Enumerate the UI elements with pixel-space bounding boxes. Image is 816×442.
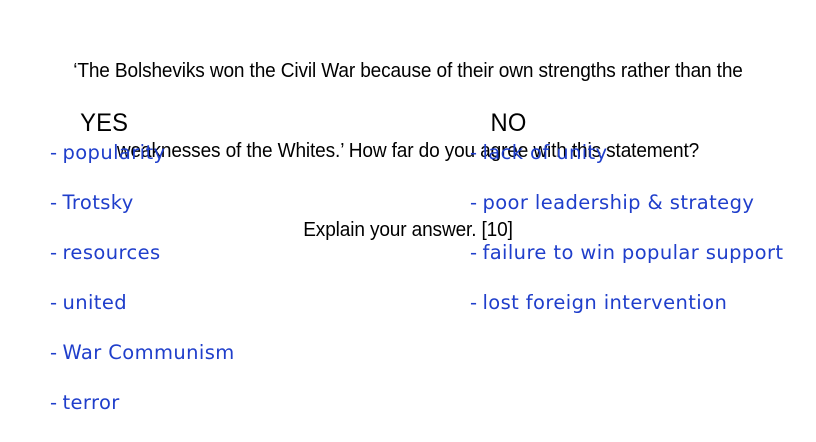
list-item-label: lost foreign intervention — [482, 291, 727, 314]
list-item: -lost foreign intervention — [462, 292, 816, 342]
list-item-label: terror — [62, 391, 119, 414]
list-item: -terror — [44, 392, 444, 442]
bullet-dash-icon: - — [470, 242, 477, 264]
list-item-label: resources — [62, 241, 160, 264]
list-item-label: War Communism — [62, 341, 234, 364]
list-item-label: popularity — [62, 141, 165, 164]
bullet-dash-icon: - — [50, 242, 57, 264]
bullet-dash-icon: - — [50, 192, 57, 214]
slide-canvas: ‘The Bolsheviks won the Civil War becaus… — [0, 0, 816, 436]
column-header-yes: YES — [44, 108, 424, 142]
list-item-label: failure to win popular support — [482, 241, 783, 264]
column-header-no: NO — [462, 108, 798, 142]
list-item: -popularity — [44, 142, 444, 192]
column-no: NO -lack of unity -poor leadership & str… — [462, 108, 816, 342]
bullet-dash-icon: - — [50, 342, 57, 364]
list-item: -resources — [44, 242, 444, 292]
bullet-dash-icon: - — [50, 292, 57, 314]
list-item-label: lack of unity — [482, 141, 607, 164]
list-item: -lack of unity — [462, 142, 816, 192]
bullet-dash-icon: - — [50, 392, 57, 414]
list-item: -united — [44, 292, 444, 342]
list-item-label: Trotsky — [62, 191, 133, 214]
column-yes: YES -popularity -Trotsky -resources -uni… — [44, 108, 444, 442]
bullet-dash-icon: - — [470, 192, 477, 214]
bullet-dash-icon: - — [50, 142, 57, 164]
bullet-dash-icon: - — [470, 142, 477, 164]
list-item: -Trotsky — [44, 192, 444, 242]
bullet-list-no: -lack of unity -poor leadership & strate… — [462, 142, 816, 342]
question-line-1: ‘The Bolsheviks won the Civil War becaus… — [45, 58, 770, 85]
answer-columns: YES -popularity -Trotsky -resources -uni… — [0, 108, 816, 436]
list-item: -poor leadership & strategy — [462, 192, 816, 242]
list-item-label: poor leadership & strategy — [482, 191, 754, 214]
bullet-dash-icon: - — [470, 292, 477, 314]
list-item: -failure to win popular support — [462, 242, 816, 292]
bullet-list-yes: -popularity -Trotsky -resources -united … — [44, 142, 444, 442]
list-item-label: united — [62, 291, 127, 314]
list-item: -War Communism — [44, 342, 444, 392]
